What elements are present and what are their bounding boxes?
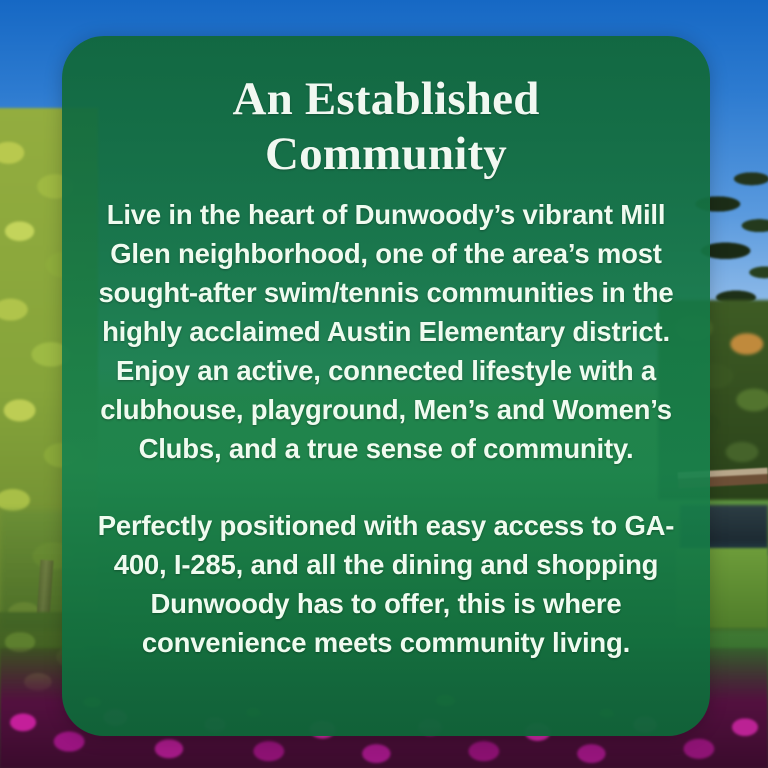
promotional-graphic: An Established Community Live in the hea… xyxy=(0,0,768,768)
green-overlay-card: An Established Community Live in the hea… xyxy=(62,36,710,736)
page-title: An Established Community xyxy=(151,72,621,181)
paragraph-amenities: Enjoy an active, connected lifestyle wit… xyxy=(90,351,682,468)
card-content: An Established Community Live in the hea… xyxy=(62,36,710,736)
paragraph-neighborhood: Live in the heart of Dunwoody’s vibrant … xyxy=(90,195,682,351)
body-copy: Live in the heart of Dunwoody’s vibrant … xyxy=(90,195,682,662)
paragraph-location: Perfectly positioned with easy access to… xyxy=(90,506,682,662)
